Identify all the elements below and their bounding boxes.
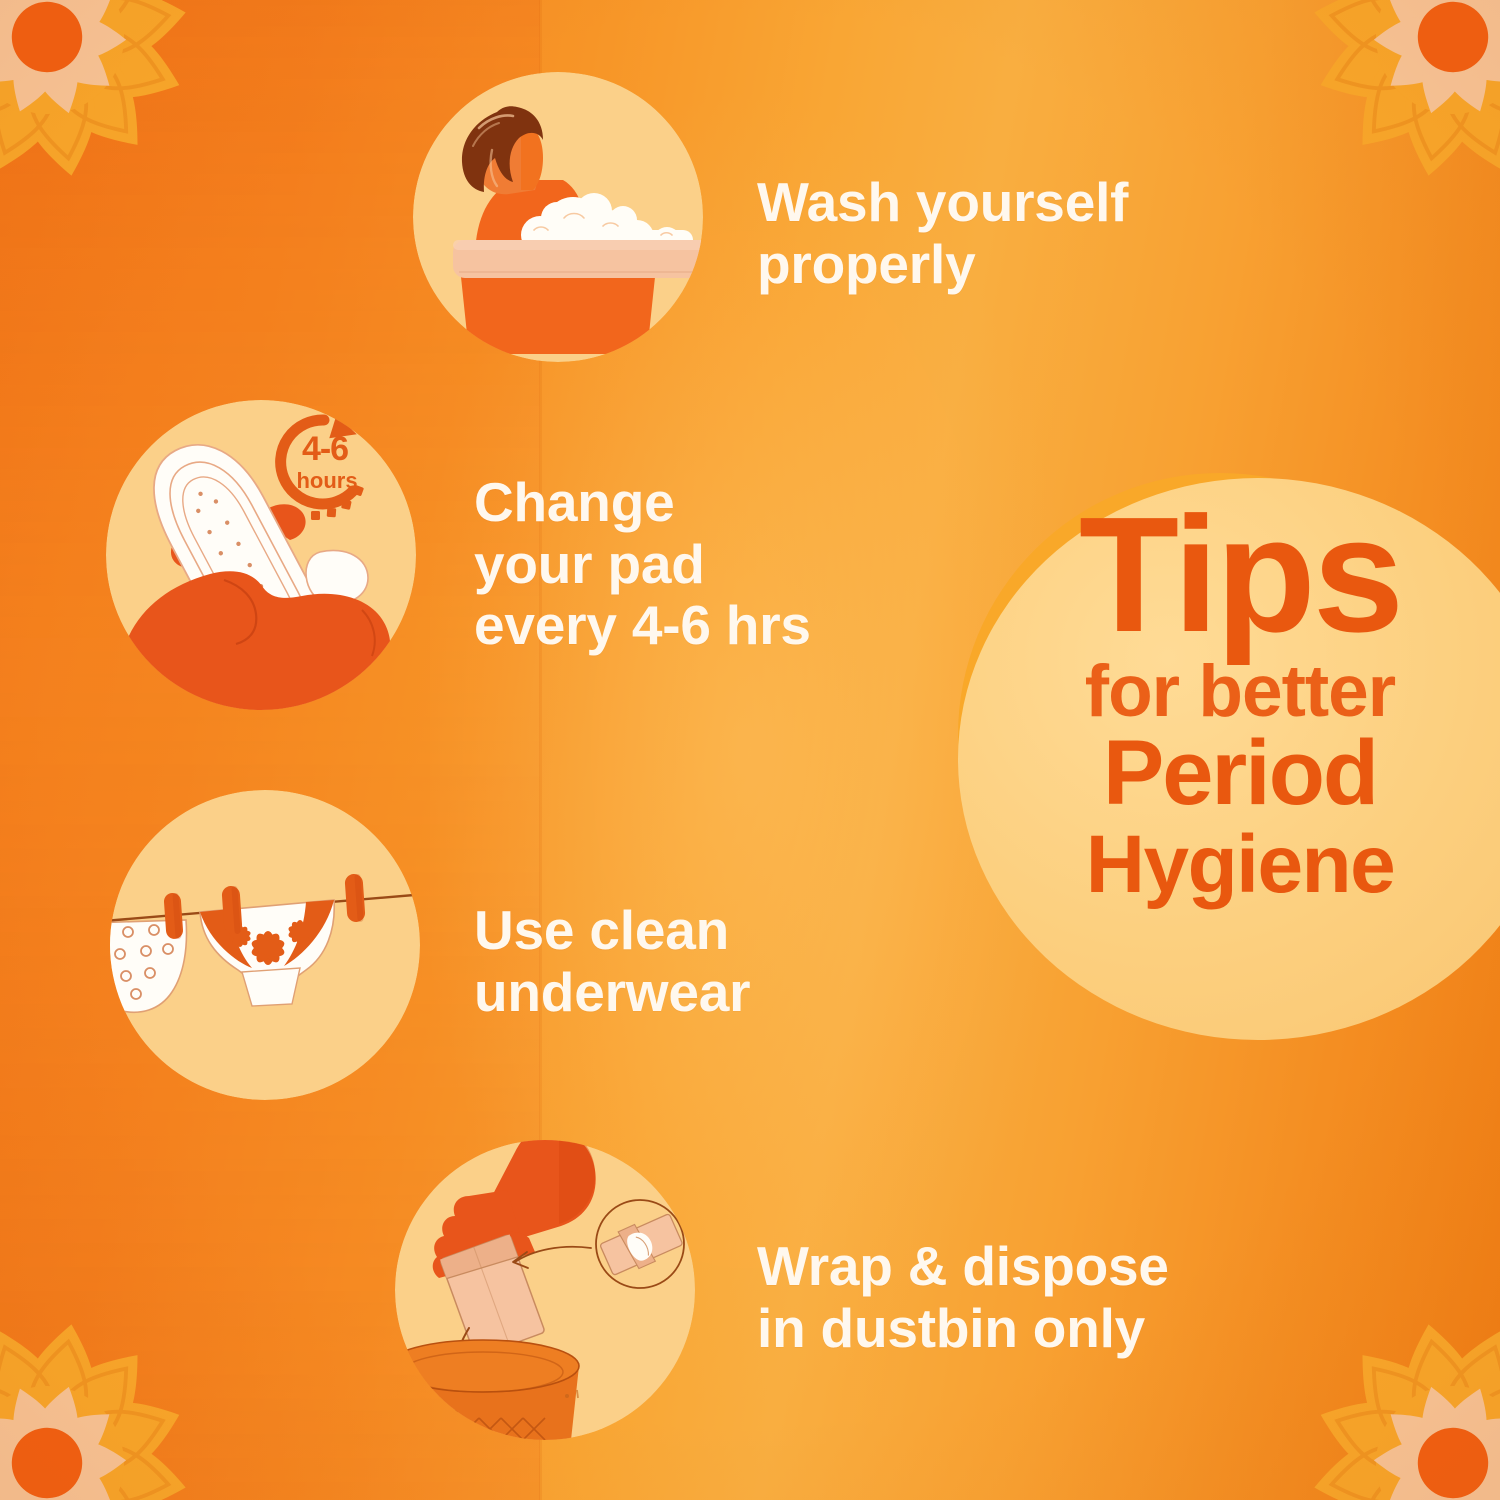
underwear-on-clothesline-illustration: [110, 790, 420, 1100]
woman-in-bathtub-illustration: [413, 72, 703, 362]
wrap-and-dispose-in-dustbin-illustration: [395, 1140, 695, 1440]
title-subline-3: Hygiene: [1000, 823, 1480, 907]
title-subline-2: Period: [1000, 727, 1480, 821]
tip-label-wrap-dispose: Wrap & dispose in dustbin only: [757, 1236, 1297, 1359]
tip-label-wash: Wash yourself properly: [757, 172, 1277, 295]
hand-holding-sanitary-pad-illustration: 4-6 hours: [106, 400, 416, 710]
title-block: Tips for better Period Hygiene: [1000, 500, 1480, 907]
badge-hours-unit: hours: [296, 468, 357, 493]
title-subline-1: for better: [1000, 655, 1480, 729]
badge-hours-value: 4-6: [302, 430, 348, 468]
tip-label-clean-underwear: Use clean underwear: [474, 900, 874, 1023]
poster-canvas: Wash yourself properly: [0, 0, 1500, 1500]
tip-label-change-pad: Change your pad every 4-6 hrs: [474, 472, 934, 657]
page-title: Tips: [1000, 500, 1480, 651]
